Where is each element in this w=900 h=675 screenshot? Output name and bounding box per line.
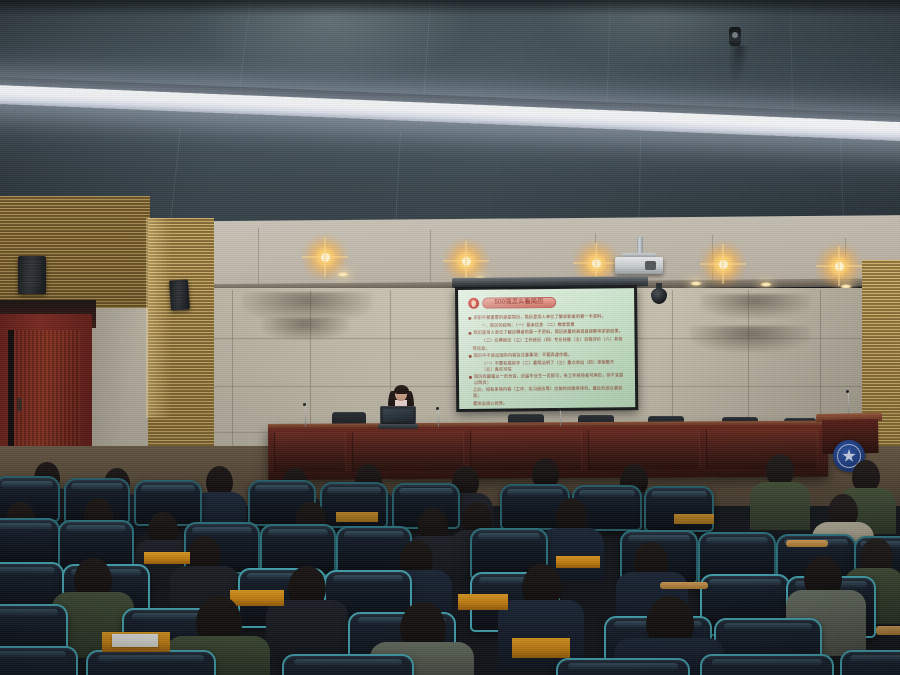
slide-text: （一）不要有错别字（二）要简洁明了（三）重点突出（四）排版整齐（五）真实可信 <box>482 359 625 371</box>
slide-text: 求职中最重要的就是简历，简历是用人单位了解求职者的第一手资料。 <box>473 313 606 320</box>
slide-line: 等信息。 <box>469 344 625 351</box>
auditorium-seat[interactable] <box>0 646 78 675</box>
slide-text: 要突出核心优势。 <box>473 400 507 406</box>
auditorium-seat[interactable] <box>840 650 900 675</box>
slide-text: （二）应聘岗位（三）工作经历（四）专业技能（五）自我评价（六）其他 <box>482 336 623 343</box>
auditorium-photo: 500强怎么看简历 求职中最重要的就是简历，简历是用人单位了解求职者的第一手资料… <box>0 0 900 675</box>
attendee-torso-uniform <box>750 482 810 530</box>
slide-body: 求职中最重要的就是简历，简历是用人单位了解求职者的第一手资料。 一、简历的结构：… <box>468 313 625 406</box>
bullet-icon <box>469 355 472 358</box>
laptop-screen[interactable] <box>380 406 416 425</box>
slide-logo-icon <box>468 298 479 309</box>
bullet-icon <box>469 376 472 379</box>
auditorium-seat[interactable] <box>556 658 690 675</box>
amber-spotlight-icon <box>700 241 746 287</box>
slide-line: 简历中不宜出现的内容及注意事项：不要弄虚作假。 <box>469 352 625 359</box>
slide-text: 一、简历的结构：（一）基本信息 （二）教育背景 <box>481 321 574 327</box>
slide-title-banner: 500强怎么看简历 <box>482 297 556 309</box>
paper-sheet <box>112 634 158 647</box>
slide-line: 之后，如有多项内容（工作、实习经历等）应按时间倒序排列，最近的放在最前面； <box>469 386 625 399</box>
slide-line: 求职中最重要的就是简历，简历是用人单位了解求职者的第一手资料。 <box>468 313 624 320</box>
writing-desk <box>556 556 600 568</box>
projection-screen: 500强怎么看简历 求职中最重要的就是简历，简历是用人单位了解求职者的第一手资料… <box>455 285 638 412</box>
slide-line: 简历的篇幅以一页为宜，应届毕业生一页即可，有工作经验者可两页，但不宜超过两页； <box>469 372 625 385</box>
slide-line: 一、简历的结构：（一）基本信息 （二）教育背景 <box>468 321 624 328</box>
slide-line: 要突出核心优势。 <box>469 399 625 406</box>
slat-highlight <box>146 218 172 418</box>
soffit-seam <box>430 230 431 286</box>
microphone-stem <box>560 410 561 426</box>
auditorium-seat[interactable] <box>644 486 714 532</box>
laptop-base[interactable] <box>378 424 418 429</box>
amber-spotlight-icon <box>816 243 862 289</box>
loudspeaker-icon <box>169 279 190 310</box>
bullet-icon <box>468 317 471 320</box>
lectern-microphone-icon <box>846 390 849 393</box>
writing-desk <box>512 638 570 658</box>
auditorium-seat[interactable] <box>282 654 414 675</box>
audience-area <box>0 440 900 675</box>
microphone-icon <box>436 407 439 410</box>
slide-line: 简历是用人单位了解应聘者的第一手资料，简历质量的高低直接影响求职结果。 <box>468 329 624 336</box>
seat-armrest <box>786 540 828 547</box>
loudspeaker-icon <box>18 256 46 294</box>
auditorium-seat[interactable] <box>700 654 834 675</box>
microphone-icon <box>558 408 561 411</box>
downlight-icon <box>690 281 702 286</box>
seat-armrest <box>876 626 900 635</box>
writing-desk <box>230 590 284 606</box>
slide-text: 简历中不宜出现的内容及注意事项：不要弄虚作假。 <box>474 352 572 359</box>
slide-text: 简历的篇幅以一页为宜，应届毕业生一页即可，有工作经验者可两页，但不宜超过两页； <box>474 372 625 385</box>
door-handle[interactable] <box>17 398 22 411</box>
ceiling-spotlight-icon <box>729 27 741 46</box>
slide-text: 等信息。 <box>473 345 490 351</box>
slide-title: 500强怎么看简历 <box>495 299 544 306</box>
downlight-icon <box>337 272 349 277</box>
writing-desk <box>144 552 190 564</box>
slide-line: （二）应聘岗位（三）工作经历（四）专业技能（五）自我评价（六）其他 <box>469 336 625 343</box>
microphone-stem <box>305 405 306 427</box>
writing-desk <box>336 512 378 522</box>
auditorium-seat[interactable] <box>86 650 216 675</box>
projector-icon <box>615 257 663 274</box>
microphone-icon <box>303 403 306 406</box>
slide-text: 之后，如有多项内容（工作、实习经历等）应按时间倒序排列，最近的放在最前面； <box>473 386 625 399</box>
downlight-icon <box>760 282 772 287</box>
bullet-icon <box>468 332 471 335</box>
slide-title-bar: 500强怎么看简历 <box>468 296 626 309</box>
microphone-stem <box>438 409 439 427</box>
slide-line: （一）不要有错别字（二）要简洁明了（三）重点突出（四）排版整齐（五）真实可信 <box>469 359 625 372</box>
writing-desk <box>674 514 714 524</box>
lectern-microphone-stem <box>848 392 849 416</box>
soffit-seam <box>258 228 259 286</box>
slide-content: 500强怎么看简历 求职中最重要的就是简历，简历是用人单位了解求职者的第一手资料… <box>458 288 635 409</box>
writing-desk <box>458 594 508 610</box>
seat-armrest <box>660 582 708 589</box>
slide-text: 简历是用人单位了解应聘者的第一手资料，简历质量的高低直接影响求职结果。 <box>473 329 623 336</box>
